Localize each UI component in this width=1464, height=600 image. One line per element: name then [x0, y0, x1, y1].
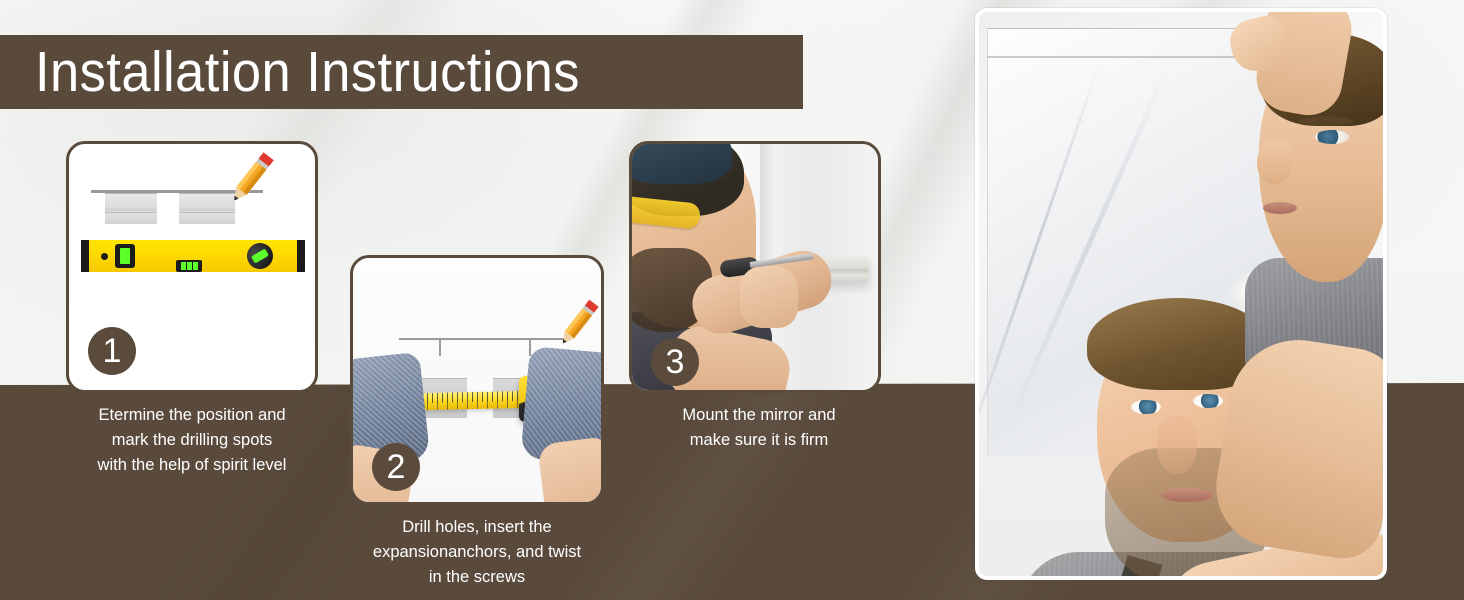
step-caption-1: Etermine the position and mark the drill…: [47, 403, 337, 478]
spirit-level-cap-right: [297, 240, 305, 272]
spirit-level-cap-left: [81, 240, 89, 272]
worker-beanie: [629, 141, 732, 184]
hero-worker-right-brow: [1299, 116, 1353, 126]
hero-worker-left-eye-left: [1131, 400, 1161, 414]
spirit-level-vial-vertical: [115, 244, 135, 268]
mirror-edge-line: [399, 338, 571, 340]
wall-bracket-left-groove: [105, 212, 157, 213]
wall-bracket-left: [105, 193, 157, 224]
page-title: Installation Instructions: [0, 44, 580, 101]
step-badge-1: 1: [88, 327, 136, 375]
hero-worker-right-eye: [1315, 130, 1349, 144]
mark-tick-left: [439, 340, 441, 356]
hero-worker-right-lip: [1263, 202, 1297, 214]
worker-hand: [740, 266, 798, 328]
step-caption-2: Drill holes, insert the expansionanchors…: [340, 515, 614, 590]
mark-tick-right: [529, 340, 531, 356]
step-caption-3: Mount the mirror and make sure it is fir…: [638, 403, 880, 453]
hero-photo-inner: [979, 12, 1383, 576]
step-badge-2: 2: [372, 443, 420, 491]
wrist-right: [537, 436, 604, 505]
hero-worker-left-mouth: [1161, 488, 1213, 502]
spirit-level-vial-round: [242, 238, 278, 274]
hero-photo: [975, 8, 1387, 580]
hero-worker-left-eye-right: [1193, 394, 1223, 408]
pencil-icon: [549, 294, 604, 352]
step-badge-3: 3: [651, 338, 699, 386]
title-banner: Installation Instructions: [0, 35, 803, 109]
hero-worker-left-nose: [1157, 416, 1197, 474]
wall-bracket-right-groove: [179, 212, 235, 213]
spirit-level-hole: [101, 253, 108, 260]
hero-worker-right-nose: [1257, 140, 1291, 184]
infographic-stage: Installation Instructions: [0, 0, 1464, 600]
spirit-level: [81, 240, 305, 272]
pencil-icon: [219, 146, 283, 210]
spirit-level-vial-horizontal: [176, 260, 202, 272]
